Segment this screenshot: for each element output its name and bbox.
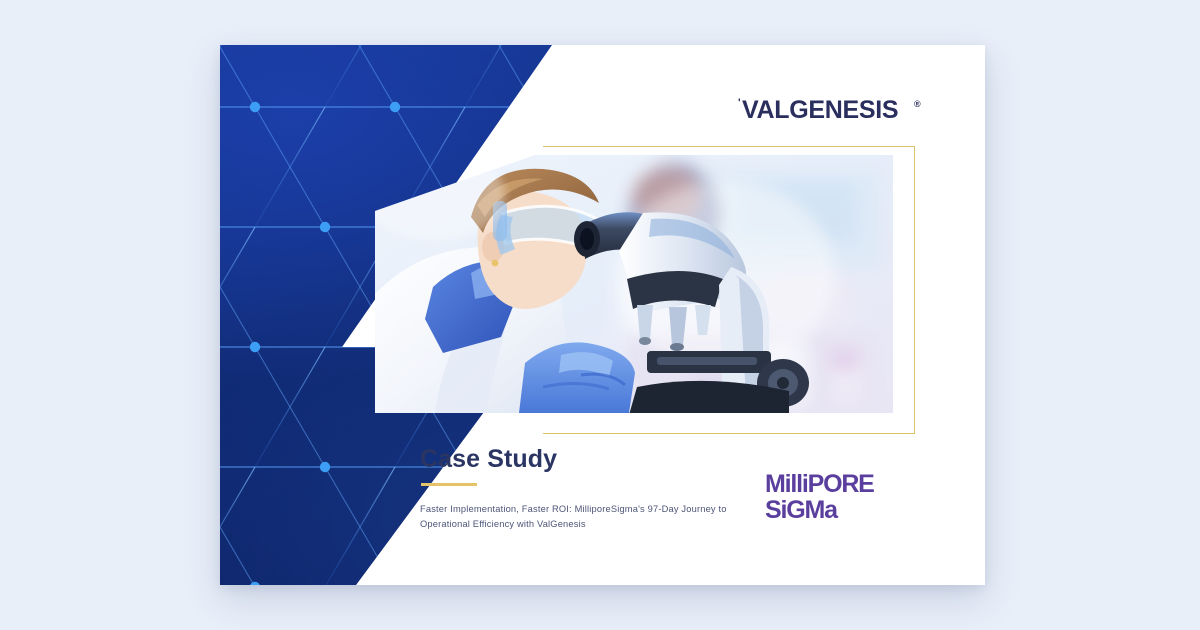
laboratory-microscope-photo xyxy=(375,155,893,413)
milliporesigma-logo-line1: MilliPORE xyxy=(765,470,874,498)
milliporesigma-logo: MilliPORE SiGMa xyxy=(765,468,940,524)
registered-trademark-icon: ® xyxy=(914,99,921,109)
page-title: Case Study xyxy=(420,445,750,474)
page-subtitle: Faster Implementation, Faster ROI: Milli… xyxy=(420,502,735,532)
cover-title-block: Case Study Faster Implementation, Faster… xyxy=(420,445,750,532)
title-accent-rule xyxy=(421,483,477,486)
case-study-cover-card: VALGENESIS ' ® Case Study Faster Impleme… xyxy=(220,45,985,585)
valgenesis-logo: VALGENESIS ' ® xyxy=(736,93,936,129)
cover-photo xyxy=(375,155,893,413)
milliporesigma-logo-line2: SiGMa xyxy=(765,496,839,524)
valgenesis-logo-tick: ' xyxy=(738,97,741,109)
valgenesis-logo-text: VALGENESIS xyxy=(742,96,898,124)
